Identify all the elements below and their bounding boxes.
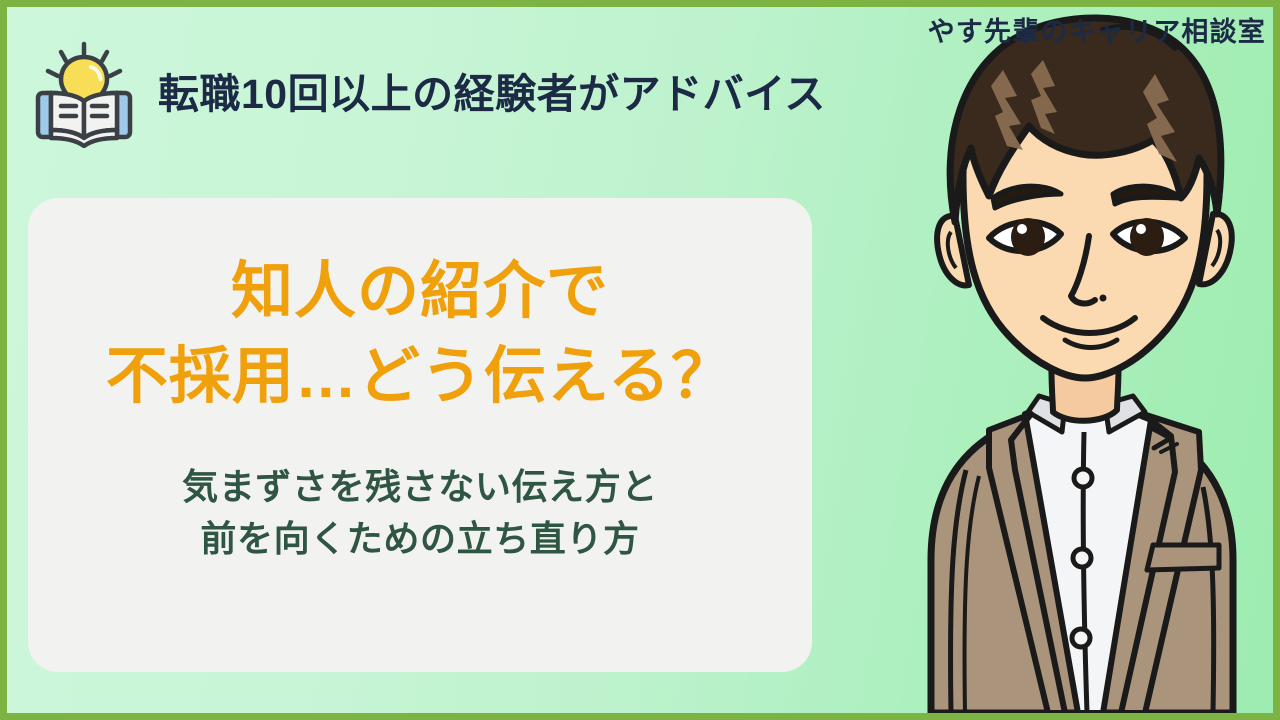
subtitle-line2: 前を向くための立ち直り方: [182, 513, 658, 565]
header-title: 転職10回以上の経験者がアドバイス: [158, 72, 826, 117]
main-title-line1: 知人の紹介で: [106, 256, 734, 329]
main-title: 知人の紹介で 不採用…どう伝える？: [106, 256, 734, 413]
channel-name-label: やす先輩のキャリア相談室: [928, 10, 1266, 49]
subtitle-line1: 気まずさを残さない伝え方と: [182, 461, 658, 513]
lightbulb-book-icon: [28, 36, 140, 148]
subtitle: 気まずさを残さない伝え方と 前を向くための立ち直り方: [182, 461, 658, 565]
main-title-line2: 不採用…どう伝える？: [106, 341, 734, 414]
content-card: 知人の紹介で 不採用…どう伝える？ 気まずさを残さない伝え方と 前を向くための立…: [28, 198, 812, 672]
header-row: 転職10回以上の経験者がアドバイス: [28, 36, 826, 148]
thumbnail-canvas: やす先輩のキャリア相談室: [0, 0, 1280, 720]
